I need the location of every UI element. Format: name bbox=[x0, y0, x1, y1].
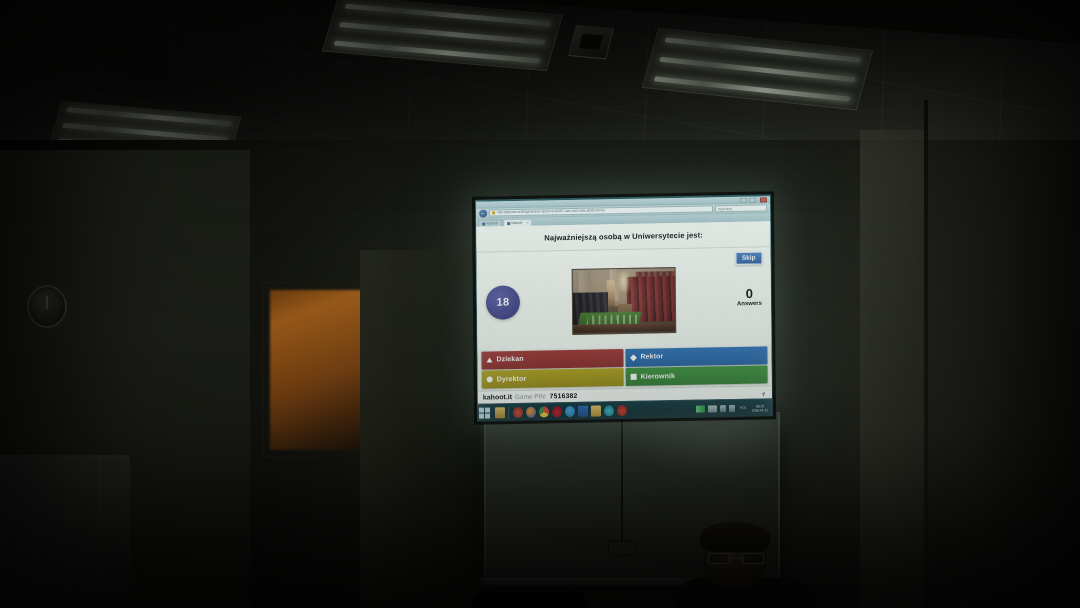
file-explorer-icon[interactable] bbox=[494, 407, 504, 418]
answer-label: Rektor bbox=[640, 353, 663, 360]
attendee-hair bbox=[700, 522, 770, 552]
windows-desktop: ← https://play.kahoot.it/#/gameblock?qui… bbox=[475, 194, 773, 421]
opera-icon[interactable] bbox=[551, 406, 561, 417]
edge-icon[interactable] bbox=[603, 405, 613, 416]
wall-tile-panel bbox=[0, 455, 130, 608]
triangle-icon bbox=[486, 357, 492, 362]
taskbar-clock[interactable]: 08:19 2016-01-11 bbox=[752, 404, 769, 412]
address-bar-text: https://play.kahoot.it/#/gameblock?quizI… bbox=[497, 208, 605, 215]
countdown-timer: 18 bbox=[486, 285, 520, 320]
favicon-icon bbox=[507, 222, 510, 225]
system-tray: POL 08:19 2016-01-11 bbox=[696, 404, 771, 413]
circle-icon bbox=[487, 376, 493, 382]
answer-label: Dyrektor bbox=[497, 375, 527, 383]
answers-count-value: 0 bbox=[737, 286, 762, 299]
answer-option-kierownik[interactable]: Kierownik bbox=[625, 365, 767, 386]
chrome-icon[interactable] bbox=[538, 406, 548, 417]
battery-icon[interactable] bbox=[696, 406, 705, 413]
screen-pull-handle[interactable] bbox=[608, 540, 637, 556]
seated-attendee bbox=[678, 526, 806, 608]
screen-pull-cord[interactable] bbox=[621, 414, 623, 542]
answer-option-dziekan[interactable]: Dziekan bbox=[481, 349, 623, 370]
browser-window: ← https://play.kahoot.it/#/gameblock?qui… bbox=[476, 196, 772, 403]
tab-close-icon[interactable]: × bbox=[527, 221, 529, 225]
clock-date: 2016-01-11 bbox=[752, 408, 768, 412]
answer-label: Dziekan bbox=[496, 356, 523, 363]
square-icon bbox=[630, 374, 636, 380]
mouse-cursor-icon bbox=[762, 392, 766, 397]
timer-value: 18 bbox=[496, 296, 509, 308]
game-pin-value: 7516382 bbox=[550, 392, 578, 400]
lock-icon bbox=[492, 211, 495, 214]
answer-option-rektor[interactable]: Rektor bbox=[625, 346, 767, 367]
skip-button[interactable]: Skip bbox=[735, 251, 763, 265]
game-pin-label: Game PIN: bbox=[515, 393, 547, 401]
question-stage: Skip 18 bbox=[476, 247, 771, 349]
kahoot-brand: kahoot.it bbox=[483, 394, 512, 402]
answer-counter: 0 Answers bbox=[737, 286, 762, 306]
back-arrow-icon[interactable]: ← bbox=[479, 209, 487, 217]
kahoot-game-page: Najważniejszą osobą w Uniwersytecie jest… bbox=[476, 221, 772, 403]
firefox-icon[interactable] bbox=[525, 407, 535, 418]
answer-label: Kierownik bbox=[640, 373, 674, 381]
stop-icon[interactable] bbox=[616, 405, 626, 416]
lecture-room-photo: ← https://play.kahoot.it/#/gameblock?qui… bbox=[0, 0, 1080, 608]
doorway-frame bbox=[262, 282, 374, 458]
search-input[interactable]: Wyszukaj bbox=[715, 204, 767, 212]
question-media-image bbox=[572, 267, 677, 335]
network-icon[interactable] bbox=[720, 405, 726, 412]
minimize-button[interactable] bbox=[740, 198, 747, 203]
projected-screen-area: ← https://play.kahoot.it/#/gameblock?qui… bbox=[475, 194, 773, 421]
favicon-icon bbox=[482, 222, 485, 225]
question-text: Najważniejszą osobą w Uniwersytecie jest… bbox=[544, 231, 703, 243]
keyboard-icon[interactable] bbox=[708, 405, 717, 412]
maximize-button[interactable] bbox=[749, 198, 756, 203]
close-icon[interactable] bbox=[760, 197, 767, 202]
answers-count-label: Answers bbox=[737, 300, 762, 306]
media-player-icon[interactable] bbox=[512, 407, 522, 418]
right-wall-panel bbox=[860, 130, 926, 608]
folder-icon[interactable] bbox=[590, 405, 600, 416]
attendee-silhouette bbox=[470, 588, 590, 608]
tab-label: Kahoot! bbox=[487, 221, 498, 225]
glasses-icon bbox=[708, 553, 764, 564]
start-button-icon[interactable] bbox=[479, 407, 490, 418]
volume-icon[interactable] bbox=[729, 405, 735, 412]
diamond-icon bbox=[630, 354, 637, 361]
skype-icon[interactable] bbox=[564, 406, 574, 417]
ceiling-vent-icon bbox=[568, 25, 614, 60]
answer-option-dyrektor[interactable]: Dyrektor bbox=[482, 368, 624, 389]
wall-clock-icon bbox=[27, 285, 67, 328]
outlook-icon[interactable] bbox=[577, 406, 587, 417]
wall-column-edge bbox=[924, 100, 928, 608]
answer-options-grid: Dziekan Rektor Dyrektor bbox=[477, 344, 771, 390]
tab-label: Kahoot! bbox=[511, 221, 522, 225]
language-indicator[interactable]: POL bbox=[738, 405, 749, 412]
wall-segment bbox=[360, 250, 480, 608]
